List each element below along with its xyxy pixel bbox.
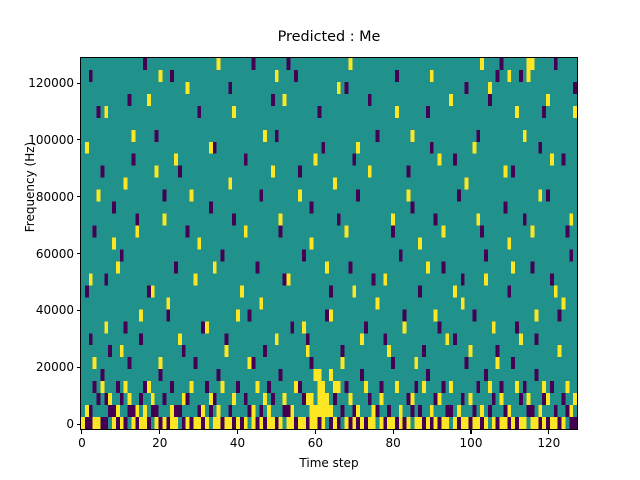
x-tick-mark	[548, 430, 549, 434]
x-tick-label: 120	[509, 436, 589, 450]
y-tick-label: 60000	[0, 247, 74, 261]
x-tick-label: 80	[353, 436, 433, 450]
page-title: Predicted : Me	[80, 28, 578, 46]
x-axis-label: Time step	[80, 456, 578, 470]
y-tick-mark	[77, 139, 81, 140]
matplotlib-figure: Predicted : Me Time step Frequency (Hz) …	[0, 0, 640, 480]
y-tick-mark	[77, 196, 81, 197]
x-tick-mark	[81, 430, 82, 434]
y-tick-label: 40000	[0, 303, 74, 317]
y-tick-mark	[77, 367, 81, 368]
heatmap-image	[81, 58, 577, 429]
y-tick-label: 80000	[0, 190, 74, 204]
x-tick-label: 0	[42, 436, 122, 450]
x-tick-mark	[393, 430, 394, 434]
y-tick-mark	[77, 253, 81, 254]
x-tick-mark	[470, 430, 471, 434]
heatmap-axes	[80, 57, 578, 430]
x-tick-label: 40	[198, 436, 278, 450]
y-tick-label: 20000	[0, 360, 74, 374]
y-tick-mark	[77, 310, 81, 311]
x-tick-label: 20	[120, 436, 200, 450]
heatmap-canvas	[81, 58, 577, 429]
y-tick-mark	[77, 424, 81, 425]
y-tick-label: 100000	[0, 133, 74, 147]
y-tick-label: 0	[0, 417, 74, 431]
x-tick-label: 100	[431, 436, 511, 450]
y-tick-label: 120000	[0, 76, 74, 90]
x-tick-mark	[237, 430, 238, 434]
x-tick-mark	[159, 430, 160, 434]
x-tick-label: 60	[275, 436, 355, 450]
x-tick-mark	[315, 430, 316, 434]
y-tick-mark	[77, 83, 81, 84]
